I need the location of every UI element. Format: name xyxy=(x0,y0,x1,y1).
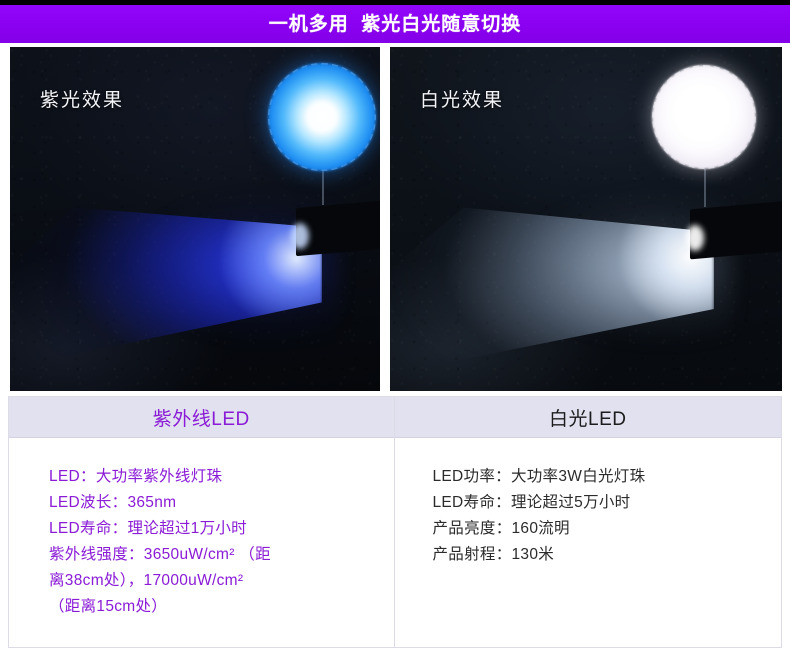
spec-row: （距离15cm处） xyxy=(49,594,372,620)
uv-photo-label: 紫光效果 xyxy=(40,85,124,112)
spec-row: LED功率：大功率3W白光灯珠 xyxy=(433,464,762,490)
uv-glow-inset xyxy=(268,63,376,171)
uv-callout-stem xyxy=(322,171,324,205)
spec-header-white: 白光LED xyxy=(395,397,782,438)
spec-row: 产品亮度：160流明 xyxy=(433,516,762,542)
spec-row: LED寿命：理论超过5万小时 xyxy=(433,490,762,516)
spec-row: 产品射程：130米 xyxy=(433,542,762,568)
photo-strip: 紫光效果 白光效果 xyxy=(0,45,790,391)
uv-effect-photo: 紫光效果 xyxy=(10,47,380,391)
spec-column-uv: 紫外线LED LED：大功率紫外线灯珠 LED波长：365nm LED寿命：理论… xyxy=(9,397,395,647)
banner-title: 一机多用 紫光白光随意切换 xyxy=(269,15,522,34)
white-glow-inset xyxy=(652,65,756,169)
banner: 一机多用 紫光白光随意切换 xyxy=(0,5,790,43)
spec-row: LED：大功率紫外线灯珠 xyxy=(49,464,372,490)
spec-header-uv-label: 紫外线LED xyxy=(153,404,250,431)
spec-row: 离38cm处），17000uW/cm² xyxy=(49,568,372,594)
spec-header-uv: 紫外线LED xyxy=(9,397,394,438)
white-photo-label: 白光效果 xyxy=(420,85,504,112)
white-lens-hotspot xyxy=(686,225,704,251)
spec-row: LED波长：365nm xyxy=(49,490,372,516)
uv-flashlight-silhouette xyxy=(296,200,380,256)
spec-row: 紫外线强度：3650uW/cm² （距 xyxy=(49,542,372,568)
white-effect-photo: 白光效果 xyxy=(390,47,782,391)
uv-lens-hotspot xyxy=(291,223,309,249)
spec-list-white: LED功率：大功率3W白光灯珠 LED寿命：理论超过5万小时 产品亮度：160流… xyxy=(395,464,782,568)
white-callout-stem xyxy=(704,169,706,207)
spec-list-uv: LED：大功率紫外线灯珠 LED波长：365nm LED寿命：理论超过1万小时 … xyxy=(9,464,394,620)
product-infographic: 一机多用 紫光白光随意切换 紫光效果 xyxy=(0,0,790,655)
spec-body-white: LED功率：大功率3W白光灯珠 LED寿命：理论超过5万小时 产品亮度：160流… xyxy=(395,438,782,568)
spec-row: LED寿命：理论超过1万小时 xyxy=(49,516,372,542)
spec-table: 紫外线LED LED：大功率紫外线灯珠 LED波长：365nm LED寿命：理论… xyxy=(8,396,782,648)
uv-glow-gradient xyxy=(268,63,376,171)
white-glow-gradient xyxy=(652,65,756,169)
spec-body-uv: LED：大功率紫外线灯珠 LED波长：365nm LED寿命：理论超过1万小时 … xyxy=(9,438,394,620)
white-flashlight-silhouette xyxy=(690,201,782,260)
spec-header-white-label: 白光LED xyxy=(549,404,626,431)
spec-column-white: 白光LED LED功率：大功率3W白光灯珠 LED寿命：理论超过5万小时 产品亮… xyxy=(395,397,782,647)
